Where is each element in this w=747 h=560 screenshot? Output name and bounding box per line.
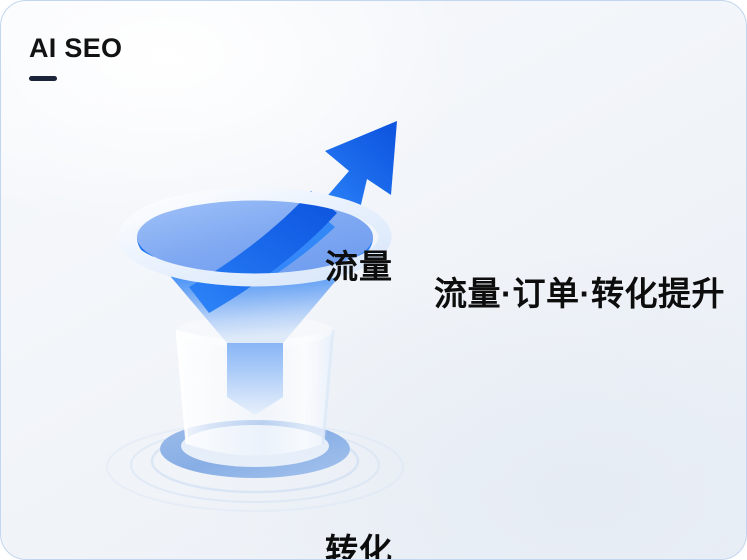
seo-poster-card: AI SEO [0,0,747,560]
funnel-top-label-traffic: 流量 [325,250,393,283]
funnel-graphic [97,97,427,527]
headline-text: 流量·订单·转化提升 [434,277,725,310]
seo-funnel-illustration: 流量 转化 [97,97,427,527]
funnel-bottom-label-conversion: 转化 [325,534,393,560]
page-title: AI SEO [29,35,122,62]
title-block: AI SEO [29,35,122,81]
title-underline-accent [29,76,57,81]
